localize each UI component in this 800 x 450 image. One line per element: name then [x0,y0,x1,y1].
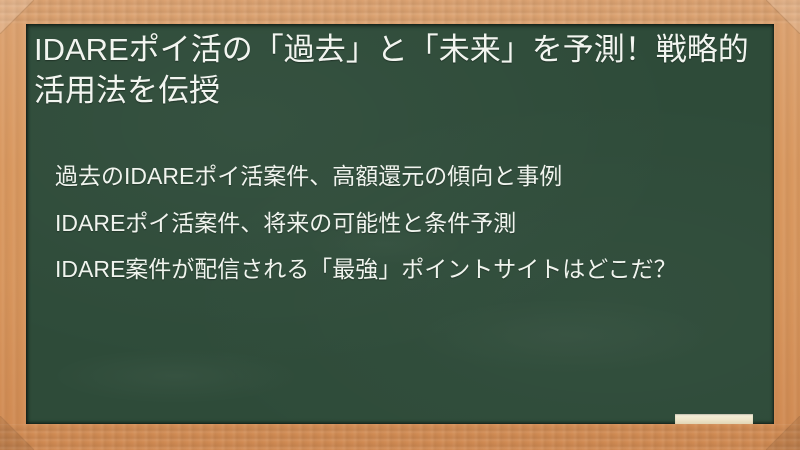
list-item: 過去のIDAREポイ活案件、高額還元の傾向と事例 [55,161,761,193]
frame-top-rail [0,0,800,24]
frame-bottom-rail [0,424,800,450]
list-item: IDARE案件が配信される「最強」ポイントサイトはどこだ？ [55,254,761,286]
chalk-stick-icon [675,414,753,424]
list-item: IDAREポイ活案件、将来の可能性と条件予測 [55,208,761,240]
slide-title: IDAREポイ活の「過去」と「未来」を予測！戦略的活用法を伝授 [34,30,760,112]
chalkboard-frame: IDAREポイ活の「過去」と「未来」を予測！戦略的活用法を伝授 過去のIDARE… [0,0,800,450]
topic-list: 過去のIDAREポイ活案件、高額還元の傾向と事例 IDAREポイ活案件、将来の可… [55,161,761,286]
chalkboard-surface: IDAREポイ活の「過去」と「未来」を予測！戦略的活用法を伝授 過去のIDARE… [26,24,774,424]
